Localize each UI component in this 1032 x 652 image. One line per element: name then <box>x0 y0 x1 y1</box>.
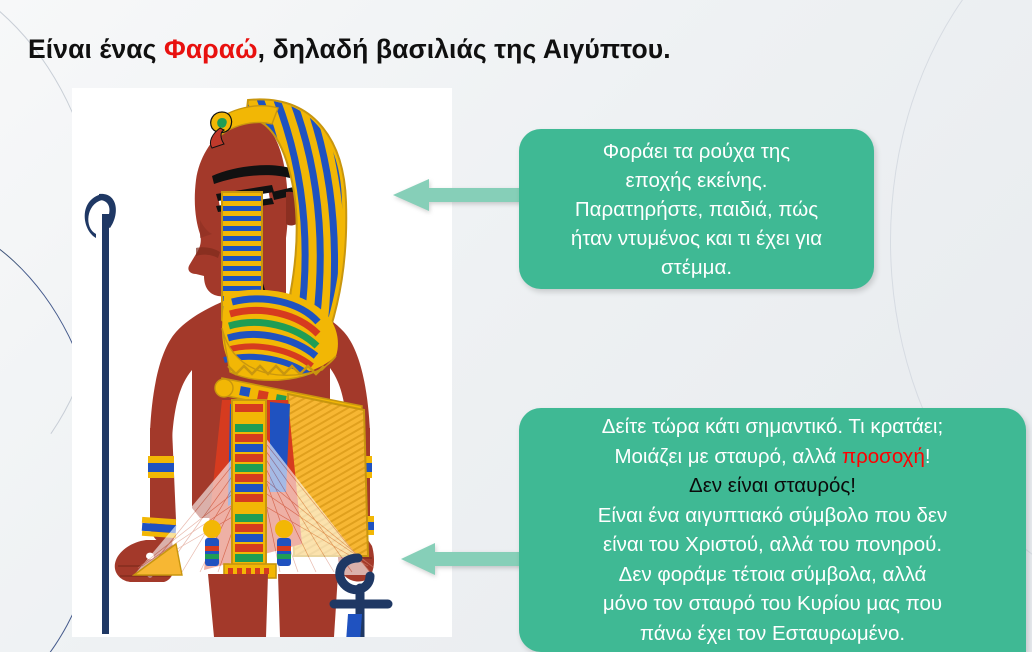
callout-clothing-line-5: στέμμα. <box>661 256 732 279</box>
left-leg <box>208 574 268 637</box>
page-title: Είναι ένας Φαραώ, δηλαδή βασιλιάς της Αι… <box>28 34 978 65</box>
callout-warning-line-2b: ! <box>925 445 931 468</box>
callout-clothing-line-1: Φοράει τα ρούχα της <box>603 140 790 163</box>
apron-pendant-left <box>203 520 221 566</box>
was-staff-icon <box>85 194 116 634</box>
sash-tail <box>344 614 362 637</box>
title-suffix: , δηλαδή βασιλιάς της Αιγύπτου. <box>258 34 671 64</box>
slide-canvas: Είναι ένας Φαραώ, δηλαδή βασιλιάς της Αι… <box>0 0 1032 652</box>
callout-warning-line-1: Δείτε τώρα κάτι σημαντικό. Τι κρατάει; <box>602 415 943 438</box>
title-highlight: Φαραώ <box>164 34 258 64</box>
arrow-to-headdress <box>389 177 523 213</box>
callout-ankh-warning-text: Δείτε τώρα κάτι σημαντικό. Τι κρατάει; Μ… <box>598 412 948 648</box>
pharaoh-illustration <box>72 88 452 637</box>
callout-clothing-line-3: Παρατηρήστε, παιδιά, πώς <box>575 198 818 221</box>
callout-clothing-line-2: εποχής εκείνης. <box>626 169 768 192</box>
callout-warning-line-4: Είναι ένα αιγυπτιακό σύμβολο που δεν <box>598 504 948 527</box>
armband-left <box>148 456 174 478</box>
callout-clothing-text: Φοράει τα ρούχα της εποχής εκείνης. Παρα… <box>571 137 822 282</box>
callout-warning-line-6: Δεν φοράμε τέτοια σύμβολα, αλλά <box>619 563 927 586</box>
callout-clothing-line-4: ήταν ντυμένος και τι έχει για <box>571 227 822 250</box>
callout-warning-line-8: πάνω έχει τον Εσταυρωμένο. <box>640 622 905 645</box>
callout-warning-line-5: είναι του Χριστού, αλλά του πονηρού. <box>603 533 942 556</box>
callout-ankh-warning[interactable]: Δείτε τώρα κάτι σημαντικό. Τι κρατάει; Μ… <box>519 408 1026 652</box>
callout-warning-line-2a: Μοιάζει με σταυρό, αλλά <box>614 445 842 468</box>
callout-warning-line-7: μόνο τον σταυρό του Κυρίου μας που <box>603 592 942 615</box>
pharaoh-image[interactable] <box>72 88 452 637</box>
callout-clothing[interactable]: Φοράει τα ρούχα της εποχής εκείνης. Παρα… <box>519 129 874 289</box>
apron-pendant-right <box>275 520 293 566</box>
callout-warning-emphasis: προσοχή <box>842 445 925 468</box>
title-prefix: Είναι ένας <box>28 34 164 64</box>
arrow-to-ankh <box>397 541 523 577</box>
right-leg <box>278 574 338 637</box>
callout-warning-line-3: Δεν είναι σταυρός! <box>689 474 856 497</box>
